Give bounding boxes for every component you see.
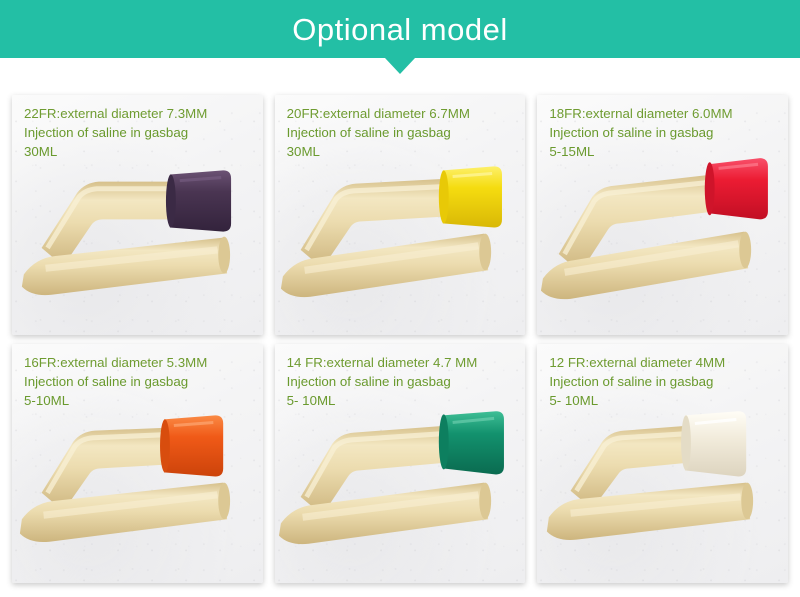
card-saline-line-1: Injection of saline in gasbag bbox=[24, 372, 257, 391]
card-slot: 16FR:external diameter 5.3MM Injection o… bbox=[6, 341, 269, 590]
card-saline-line-2: 5- 10ML bbox=[287, 391, 520, 410]
card-saline-line-1: Injection of saline in gasbag bbox=[549, 372, 782, 391]
product-card[interactable]: 20FR:external diameter 6.7MM Injection o… bbox=[275, 95, 526, 335]
card-saline-line-2: 30ML bbox=[24, 142, 257, 161]
card-saline-line-1: Injection of saline in gasbag bbox=[287, 123, 520, 142]
card-caption: 16FR:external diameter 5.3MM Injection o… bbox=[24, 353, 257, 410]
card-spec-text: 16FR:external diameter 5.3MM bbox=[24, 353, 257, 372]
card-saline-line-2: 5- 10ML bbox=[549, 391, 782, 410]
page-title: Optional model bbox=[292, 14, 508, 45]
card-saline-line-1: Injection of saline in gasbag bbox=[24, 123, 257, 142]
card-slot: 20FR:external diameter 6.7MM Injection o… bbox=[269, 92, 532, 341]
card-caption: 14 FR:external diameter 4.7 MM Injection… bbox=[287, 353, 520, 410]
product-card[interactable]: 12 FR:external diameter 4MM Injection of… bbox=[537, 344, 788, 584]
card-slot: 22FR:external diameter 7.3MM Injection o… bbox=[6, 92, 269, 341]
card-slot: 18FR:external diameter 6.0MM Injection o… bbox=[531, 92, 794, 341]
card-caption: 20FR:external diameter 6.7MM Injection o… bbox=[287, 104, 520, 161]
card-spec-text: 14 FR:external diameter 4.7 MM bbox=[287, 353, 520, 372]
card-saline-line-2: 5-15ML bbox=[549, 142, 782, 161]
card-spec-text: 18FR:external diameter 6.0MM bbox=[549, 104, 782, 123]
card-saline-line-1: Injection of saline in gasbag bbox=[287, 372, 520, 391]
product-card-grid: 22FR:external diameter 7.3MM Injection o… bbox=[0, 88, 800, 597]
product-card[interactable]: 22FR:external diameter 7.3MM Injection o… bbox=[12, 95, 263, 335]
card-slot: 14 FR:external diameter 4.7 MM Injection… bbox=[269, 341, 532, 590]
product-card[interactable]: 18FR:external diameter 6.0MM Injection o… bbox=[537, 95, 788, 335]
card-spec-text: 20FR:external diameter 6.7MM bbox=[287, 104, 520, 123]
card-spec-text: 22FR:external diameter 7.3MM bbox=[24, 104, 257, 123]
card-caption: 22FR:external diameter 7.3MM Injection o… bbox=[24, 104, 257, 161]
card-caption: 12 FR:external diameter 4MM Injection of… bbox=[549, 353, 782, 410]
product-card[interactable]: 14 FR:external diameter 4.7 MM Injection… bbox=[275, 344, 526, 584]
header-arrow-icon bbox=[385, 58, 415, 74]
card-caption: 18FR:external diameter 6.0MM Injection o… bbox=[549, 104, 782, 161]
card-saline-line-2: 5-10ML bbox=[24, 391, 257, 410]
infographic-page: Optional model 22FR:external diameter 7.… bbox=[0, 0, 800, 597]
card-slot: 12 FR:external diameter 4MM Injection of… bbox=[531, 341, 794, 590]
card-spec-text: 12 FR:external diameter 4MM bbox=[549, 353, 782, 372]
card-saline-line-2: 30ML bbox=[287, 142, 520, 161]
product-card[interactable]: 16FR:external diameter 5.3MM Injection o… bbox=[12, 344, 263, 584]
header-banner: Optional model bbox=[0, 0, 800, 58]
card-saline-line-1: Injection of saline in gasbag bbox=[549, 123, 782, 142]
